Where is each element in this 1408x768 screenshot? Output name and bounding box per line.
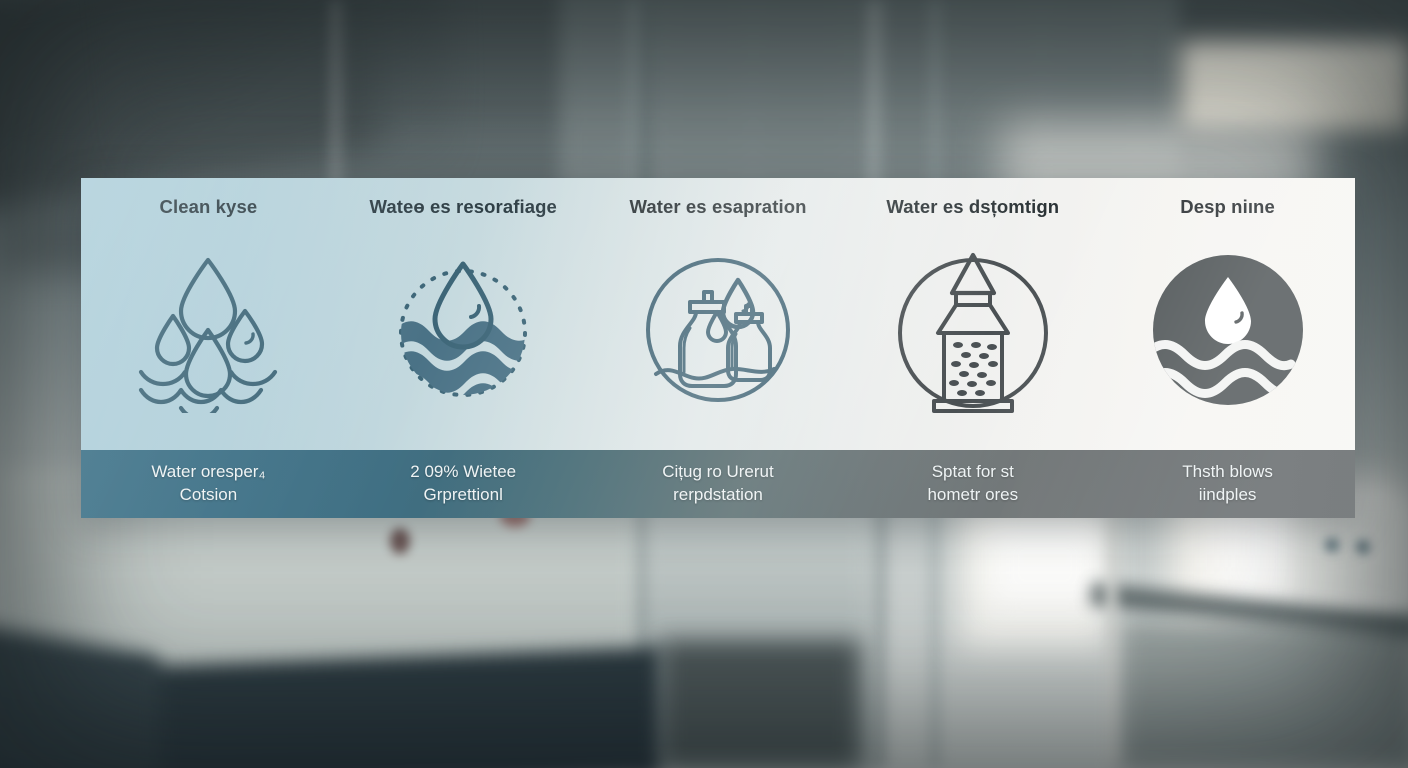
caption-line-2: hometr ores [927, 484, 1018, 507]
solid-circle-drop-waves-icon [1149, 218, 1307, 450]
water-infographic-panel: Clean kyse Wa [81, 178, 1355, 518]
caption-line-1: Cițug ro Urerut [662, 461, 773, 484]
infographic-column-water-distribution[interactable]: Water es dsțomtign [845, 178, 1100, 450]
filter-tower-circle-icon [890, 218, 1056, 450]
infographic-caption-bar: Water oresper₄ Cotsion 2 09% Wietee Grpr… [81, 450, 1355, 518]
caption-line-2: Grprettionl [410, 484, 516, 507]
caption-water-distribution: Sptat for st hometr ores [845, 450, 1100, 518]
column-header-water-separation: Water es esapration [629, 178, 806, 218]
infographic-column-clean-water[interactable]: Clean kyse [81, 178, 336, 450]
infographic-column-deep-mine[interactable]: Desp niıne [1100, 178, 1355, 450]
column-header-deep-mine: Desp niıne [1180, 178, 1275, 218]
screenshot-root: Clean kyse Wa [0, 0, 1408, 768]
caption-line-2: Cotsion [151, 484, 265, 507]
column-header-water-distribution: Water es dsțomtign [886, 178, 1059, 218]
caption-water-resource: 2 09% Wietee Grprettionl [336, 450, 591, 518]
caption-line-1: 2 09% Wietee [410, 461, 516, 484]
caption-line-1: Sptat for st [927, 461, 1018, 484]
caption-line-2: iindples [1182, 484, 1273, 507]
caption-line-2: rerpdstation [662, 484, 773, 507]
column-header-clean-water: Clean kyse [160, 178, 258, 218]
infographic-column-water-separation[interactable]: Water es esapration [591, 178, 846, 450]
water-drops-waves-icon [133, 218, 283, 450]
column-header-water-resource: Wateɵ es resorafiage [369, 178, 556, 218]
caption-line-1: Water oresper₄ [151, 461, 265, 484]
infographic-icon-row: Clean kyse Wa [81, 178, 1355, 450]
bottles-drops-circle-icon [638, 218, 798, 450]
caption-line-1: Thsth blows [1182, 461, 1273, 484]
infographic-column-water-resource[interactable]: Wateɵ es resorafiage [336, 178, 591, 450]
caption-deep-mine: Thsth blows iindples [1100, 450, 1355, 518]
caption-water-separation: Cițug ro Urerut rerpdstation [591, 450, 846, 518]
dashed-circle-drop-waves-icon [383, 218, 543, 450]
caption-clean-water: Water oresper₄ Cotsion [81, 450, 336, 518]
